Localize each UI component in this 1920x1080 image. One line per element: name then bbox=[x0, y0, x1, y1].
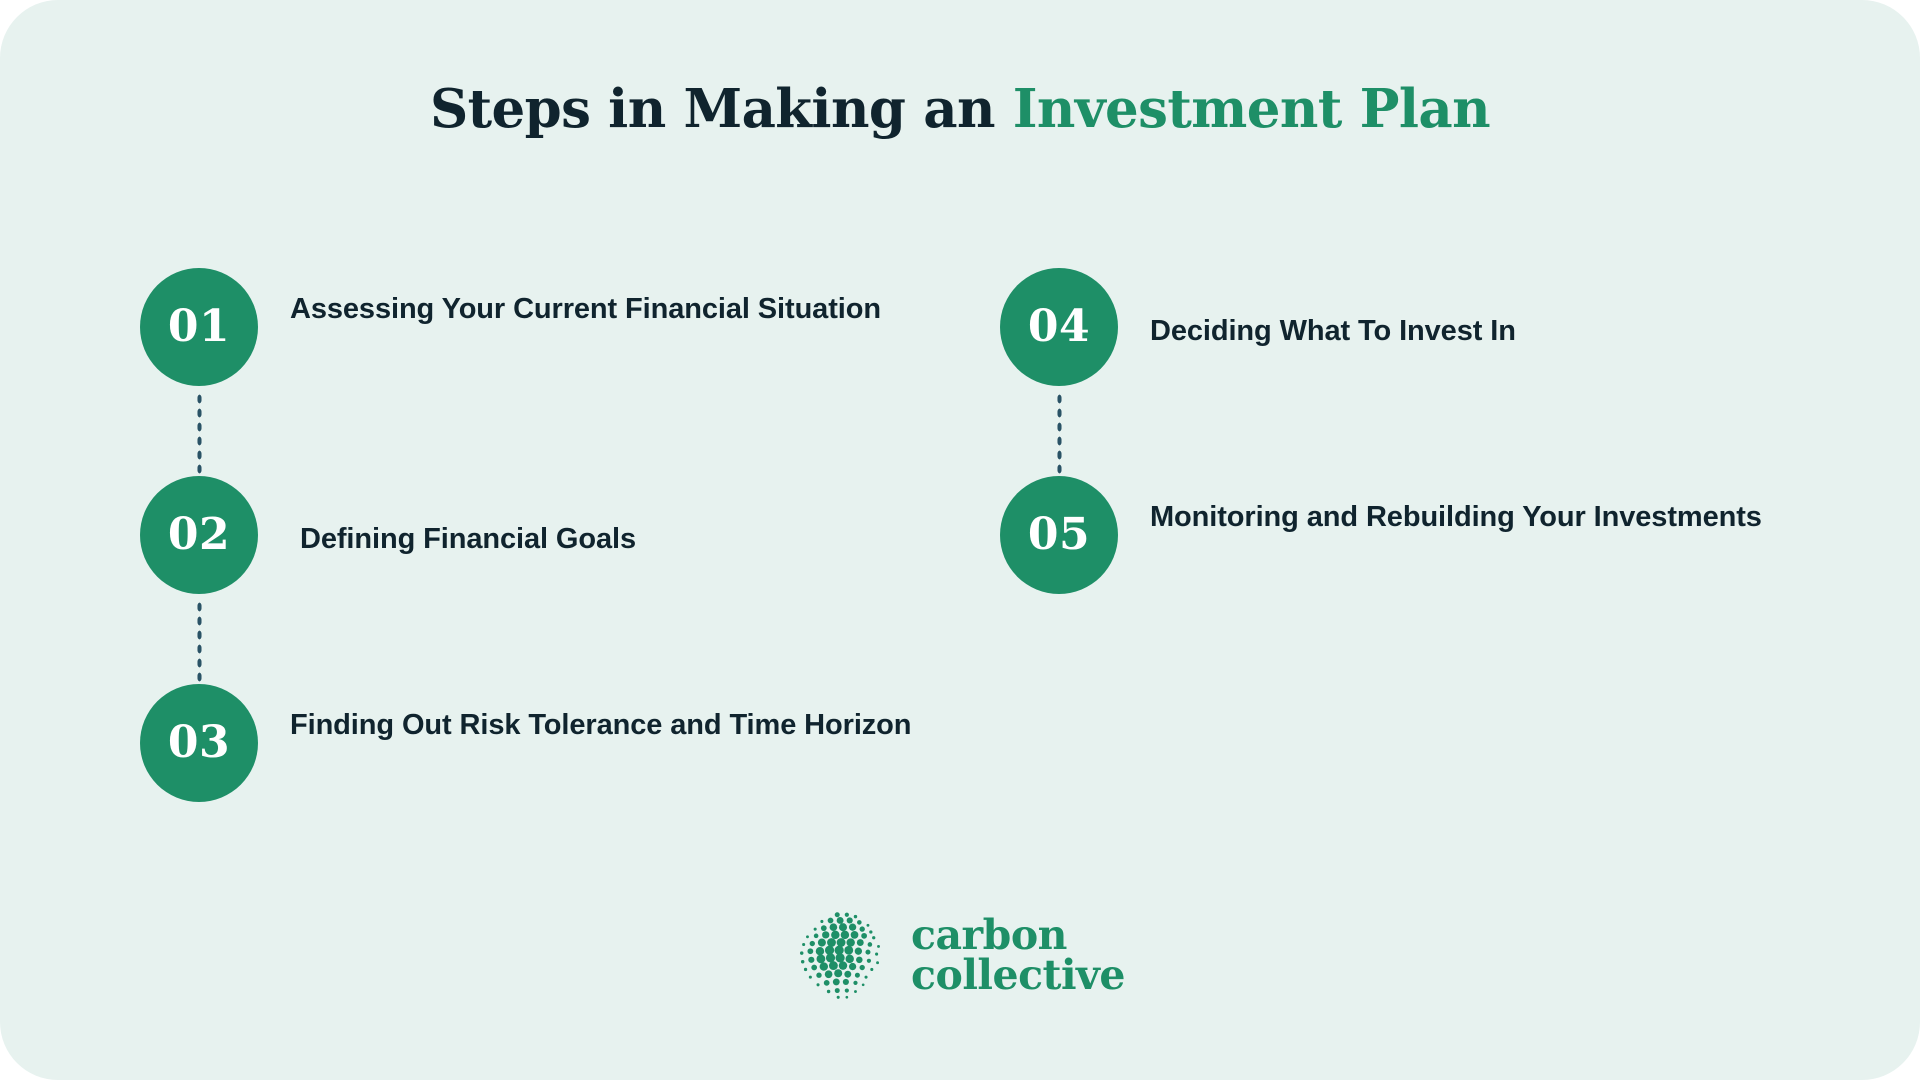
step-connector-dotted-01 bbox=[196, 392, 203, 476]
carbon-collective-dot-circle-logo-icon bbox=[795, 908, 891, 1004]
steps-column-left: 01 Assessing Your Current Financial Situ… bbox=[140, 268, 930, 892]
footer-logo: carbon collective bbox=[0, 908, 1920, 1004]
logo-wordmark: carbon collective bbox=[911, 916, 1125, 996]
step-number-label: 01 bbox=[168, 305, 230, 349]
step-connector-dotted-02 bbox=[196, 600, 203, 684]
step-number-label: 04 bbox=[1028, 305, 1090, 349]
step-item-03[interactable]: 03 Finding Out Risk Tolerance and Time H… bbox=[140, 684, 930, 892]
logo-wordmark-line-2: collective bbox=[911, 956, 1125, 996]
step-label-03: Finding Out Risk Tolerance and Time Hori… bbox=[258, 684, 930, 745]
step-item-01[interactable]: 01 Assessing Your Current Financial Situ… bbox=[140, 268, 930, 476]
step-badge-05: 05 bbox=[1000, 476, 1118, 594]
step-badge-03: 03 bbox=[140, 684, 258, 802]
page-title: Steps in Making an Investment Plan bbox=[0, 78, 1920, 140]
step-badge-04: 04 bbox=[1000, 268, 1118, 386]
page-title-accent: Investment Plan bbox=[1013, 78, 1490, 140]
step-item-05[interactable]: 05 Monitoring and Rebuilding Your Invest… bbox=[1000, 476, 1790, 684]
step-item-04[interactable]: 04 Deciding What To Invest In bbox=[1000, 268, 1790, 476]
step-label-01: Assessing Your Current Financial Situati… bbox=[258, 268, 930, 329]
step-number-label: 05 bbox=[1028, 513, 1090, 557]
step-label-02: Defining Financial Goals bbox=[258, 476, 930, 559]
step-number-label: 02 bbox=[168, 513, 230, 557]
step-badge-01: 01 bbox=[140, 268, 258, 386]
step-label-05: Monitoring and Rebuilding Your Investmen… bbox=[1118, 476, 1790, 537]
step-badge-02: 02 bbox=[140, 476, 258, 594]
step-number-label: 03 bbox=[168, 721, 230, 765]
infographic-card: Steps in Making an Investment Plan 01 As… bbox=[0, 0, 1920, 1080]
steps-column-right: 04 Deciding What To Invest In 05 Monitor… bbox=[1000, 268, 1790, 684]
step-item-02[interactable]: 02 Defining Financial Goals bbox=[140, 476, 930, 684]
step-connector-dotted-04 bbox=[1056, 392, 1063, 476]
page-title-lead: Steps in Making an bbox=[430, 78, 1013, 140]
step-label-04: Deciding What To Invest In bbox=[1118, 268, 1790, 351]
